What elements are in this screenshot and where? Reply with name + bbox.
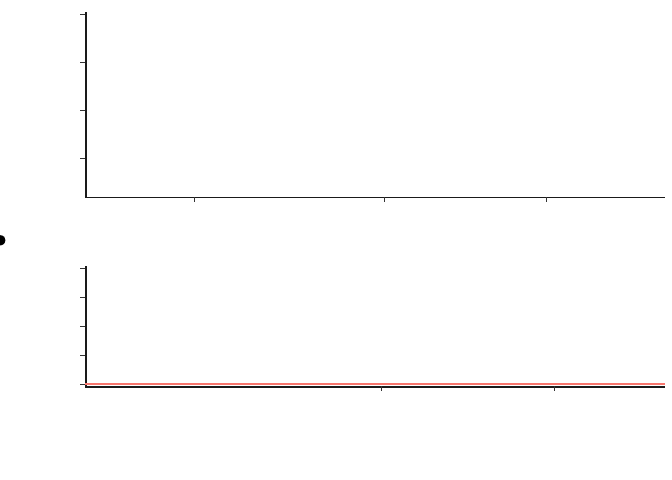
bottom-panel-x-axis-line: [85, 386, 665, 388]
bottom-panel-y-ticks: [44, 240, 72, 480]
x-tickmark-virginica-minus-setosa: [554, 386, 555, 391]
effect-size-panel: [0, 240, 672, 480]
swarm-points-layer: [0, 0, 672, 240]
x-tickmark-virginica: [546, 197, 547, 202]
effect-size-marker-virginica-minus-setosa: [0, 235, 5, 245]
bottom-panel-y-axis-line: [85, 266, 87, 386]
x-tickmark-versicolor: [384, 197, 385, 202]
estimation-plot-figure: [0, 0, 672, 480]
x-tickmark-setosa: [194, 197, 195, 202]
zero-reference-line: [85, 383, 665, 385]
raw-data-swarm-panel: [0, 0, 672, 240]
x-tickmark-versicolor-minus-setosa: [381, 386, 382, 391]
